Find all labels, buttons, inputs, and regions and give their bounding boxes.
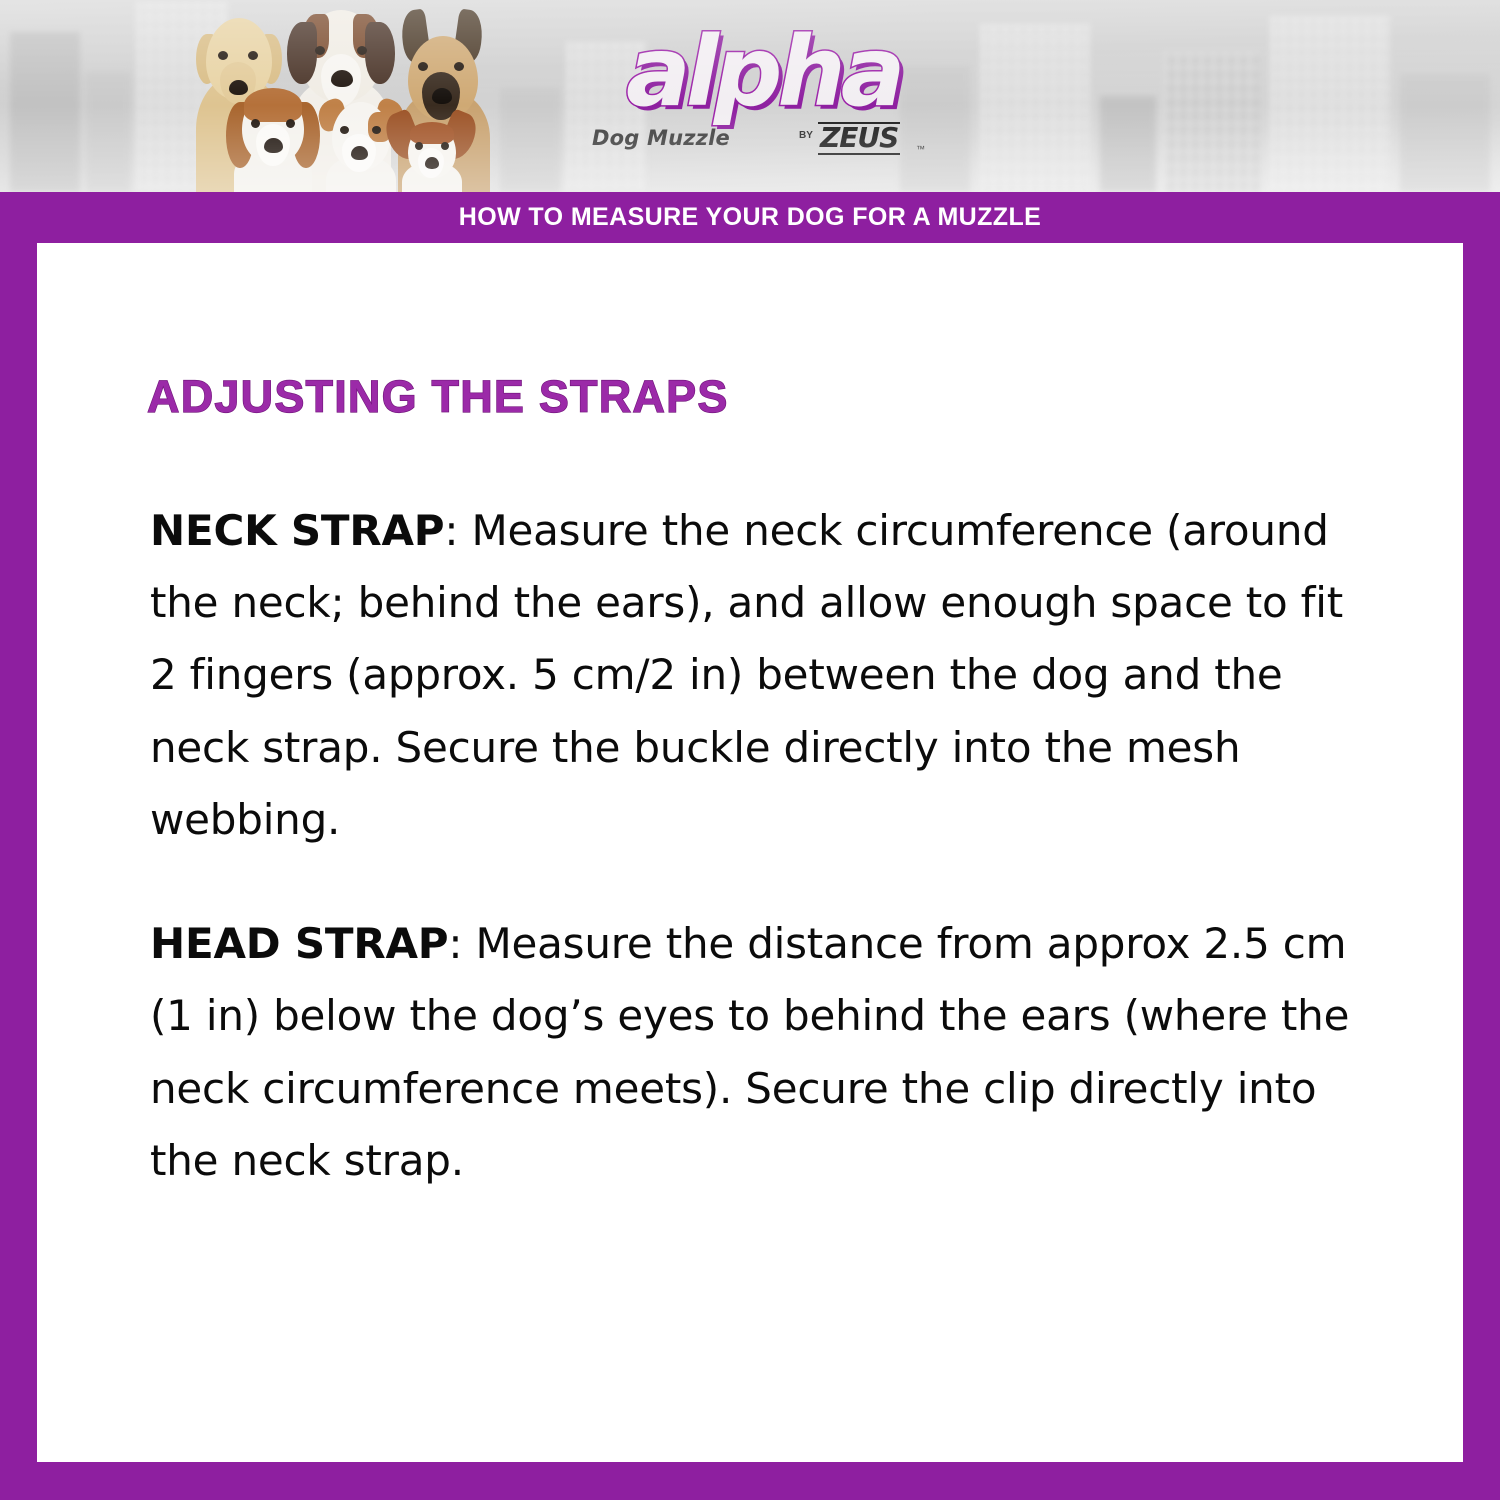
paragraph-head-strap: HEAD STRAP: Measure the distance from ap…: [150, 908, 1350, 1197]
dog-beagle: [230, 90, 316, 192]
paragraph-neck-strap: NECK STRAP: Measure the neck circumferen…: [150, 495, 1350, 856]
by-label: BY: [799, 130, 813, 141]
brand-tagline: Dog Muzzle: [592, 126, 730, 150]
head-strap-label: HEAD STRAP: [150, 919, 448, 968]
dog-jack-russell-terrier: [320, 100, 400, 192]
instructions-body: NECK STRAP: Measure the neck circumferen…: [150, 495, 1350, 1197]
page-title: HOW TO MEASURE YOUR DOG FOR A MUZZLE: [459, 203, 1041, 232]
brand-logo: alpha Dog Muzzle BY ZEUS ™: [586, 18, 906, 168]
content-card: ADJUSTING THE STRAPS NECK STRAP: Measure…: [37, 243, 1463, 1462]
zeus-wordmark: ZEUS: [818, 122, 900, 155]
neck-strap-label: NECK STRAP: [150, 506, 444, 555]
dog-collage: [192, 0, 492, 192]
poster-root: alpha Dog Muzzle BY ZEUS ™ HOW TO MEASUR…: [0, 0, 1500, 1500]
trademark-symbol: ™: [916, 144, 925, 154]
page-title-bar: HOW TO MEASURE YOUR DOG FOR A MUZZLE: [0, 192, 1500, 243]
neck-strap-text: : Measure the neck circumference (around…: [150, 506, 1343, 844]
brand-wordmark: alpha: [626, 24, 901, 120]
header-banner: alpha Dog Muzzle BY ZEUS ™: [0, 0, 1500, 192]
dog-papillon: [392, 112, 470, 192]
section-heading: ADJUSTING THE STRAPS: [147, 371, 729, 423]
